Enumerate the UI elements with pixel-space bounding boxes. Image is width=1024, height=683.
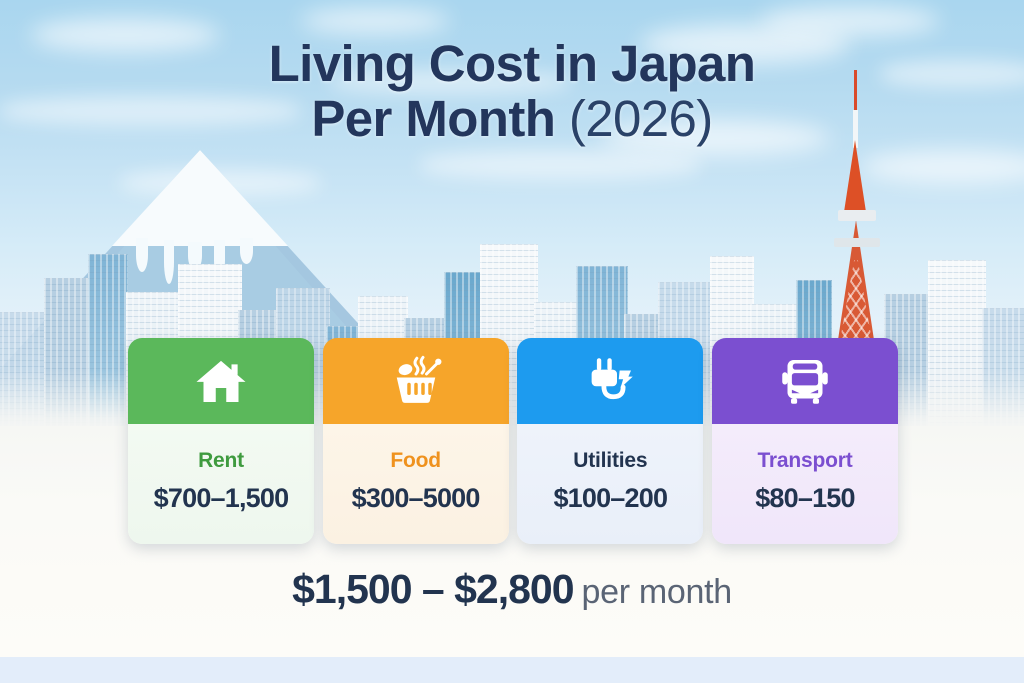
card-value-rent: $700–1,500 <box>154 483 289 514</box>
card-label-transport: Transport <box>757 449 852 473</box>
card-value-utilities: $100–200 <box>553 483 667 514</box>
cost-card-food[interactable]: Food $300–5000 <box>323 338 509 544</box>
card-header-utilities <box>517 338 703 424</box>
total-cost-summary: $1,500 – $2,800per month <box>0 566 1024 613</box>
cloud-shape <box>300 8 450 34</box>
card-value-transport: $80–150 <box>755 483 855 514</box>
card-body-rent: Rent $700–1,500 <box>128 424 314 544</box>
total-amount: $1,500 – $2,800 <box>292 566 573 612</box>
total-period-label: per month <box>582 573 732 611</box>
card-body-transport: Transport $80–150 <box>712 424 898 544</box>
page-title: Living Cost in Japan Per Month (2026) <box>0 36 1024 146</box>
card-label-utilities: Utilities <box>573 449 647 473</box>
house-icon <box>193 353 249 409</box>
bottom-accent-band <box>0 657 1024 683</box>
cloud-shape <box>760 6 940 36</box>
card-label-food: Food <box>390 449 441 473</box>
food-basket-icon <box>388 353 444 409</box>
card-body-utilities: Utilities $100–200 <box>517 424 703 544</box>
card-header-transport <box>712 338 898 424</box>
cost-card-rent[interactable]: Rent $700–1,500 <box>128 338 314 544</box>
title-line-2: Per Month (2026) <box>0 91 1024 146</box>
title-year: (2026) <box>569 90 713 147</box>
card-label-rent: Rent <box>198 449 244 473</box>
cost-card-utilities[interactable]: Utilities $100–200 <box>517 338 703 544</box>
tower-observation-deck-upper <box>838 210 876 221</box>
bus-icon <box>777 353 833 409</box>
cost-card-transport[interactable]: Transport $80–150 <box>712 338 898 544</box>
cost-category-cards: Rent $700–1,500 <box>128 338 898 544</box>
title-line-2-text: Per Month <box>311 90 555 147</box>
power-plug-icon <box>582 353 638 409</box>
card-body-food: Food $300–5000 <box>323 424 509 544</box>
cloud-shape <box>420 150 700 180</box>
tower-observation-deck-main <box>834 238 880 247</box>
infographic-canvas: Living Cost in Japan Per Month (2026) Re… <box>0 0 1024 683</box>
title-line-1: Living Cost in Japan <box>0 36 1024 91</box>
card-header-food <box>323 338 509 424</box>
card-header-rent <box>128 338 314 424</box>
card-value-food: $300–5000 <box>352 483 480 514</box>
tower-upper-section <box>844 140 866 212</box>
